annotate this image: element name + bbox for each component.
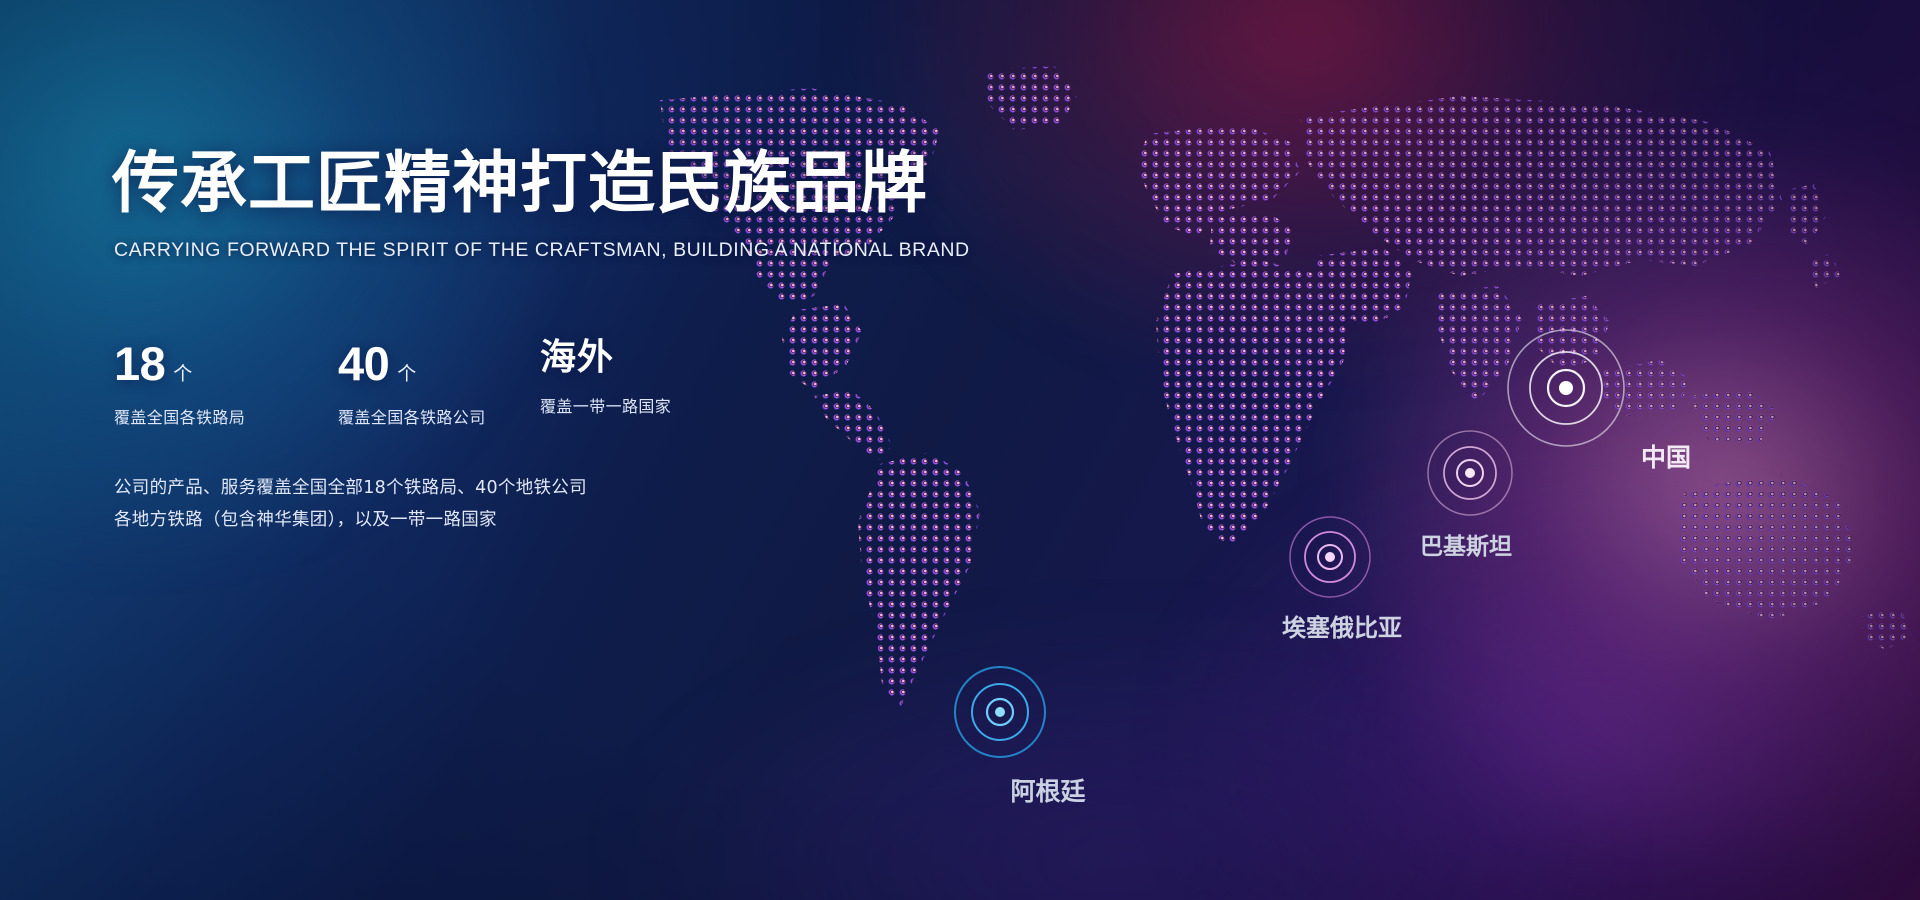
map-marker-argentina[interactable] (940, 652, 1060, 772)
stat-value: 海外 (540, 340, 614, 376)
stat-value: 18 (114, 340, 165, 387)
stat-label: 覆盖全国各铁路公司 (338, 404, 486, 428)
map-label-pakistan: 巴基斯坦 (1420, 527, 1512, 561)
banner-stage: 传承工匠精神打造民族品牌 CARRYING FORWARD THE SPIRIT… (0, 0, 1920, 900)
map-marker-pakistan[interactable] (1415, 418, 1525, 528)
map-label-argentina: 阿根廷 (1010, 772, 1085, 808)
description-line-2: 各地方铁路（包含神华集团），以及一带一路国家 (114, 504, 587, 536)
stat-item-0: 18 个 覆盖全国各铁路局 (114, 340, 245, 428)
page-subtitle: CARRYING FORWARD THE SPIRIT OF THE CRAFT… (114, 239, 932, 262)
stat-label: 覆盖全国各铁路局 (114, 404, 245, 428)
stat-label: 覆盖一带一路国家 (540, 393, 671, 417)
stat-value: 40 (338, 340, 389, 387)
map-marker-ethiopia[interactable] (1276, 503, 1384, 611)
copy-block: 传承工匠精神打造民族品牌 CARRYING FORWARD THE SPIRIT… (112, 150, 932, 262)
map-label-china: 中国 (1641, 438, 1691, 474)
map-label-ethiopia: 埃塞俄比亚 (1282, 608, 1402, 643)
stats-row: 18 个 覆盖全国各铁路局 40 个 覆盖全国各铁路公司 海外 覆盖一带一路国家 (114, 340, 814, 430)
stat-unit: 个 (397, 359, 416, 386)
description-paragraph: 公司的产品、服务覆盖全国全部18个铁路局、40个地铁公司 各地方铁路（包含神华集… (114, 472, 587, 537)
description-line-1: 公司的产品、服务覆盖全国全部18个铁路局、40个地铁公司 (114, 472, 587, 504)
stat-item-1: 40 个 覆盖全国各铁路公司 (338, 340, 486, 428)
stat-item-2: 海外 覆盖一带一路国家 (540, 340, 671, 417)
page-title: 传承工匠精神打造民族品牌 (112, 150, 932, 217)
stat-unit: 个 (173, 359, 192, 386)
